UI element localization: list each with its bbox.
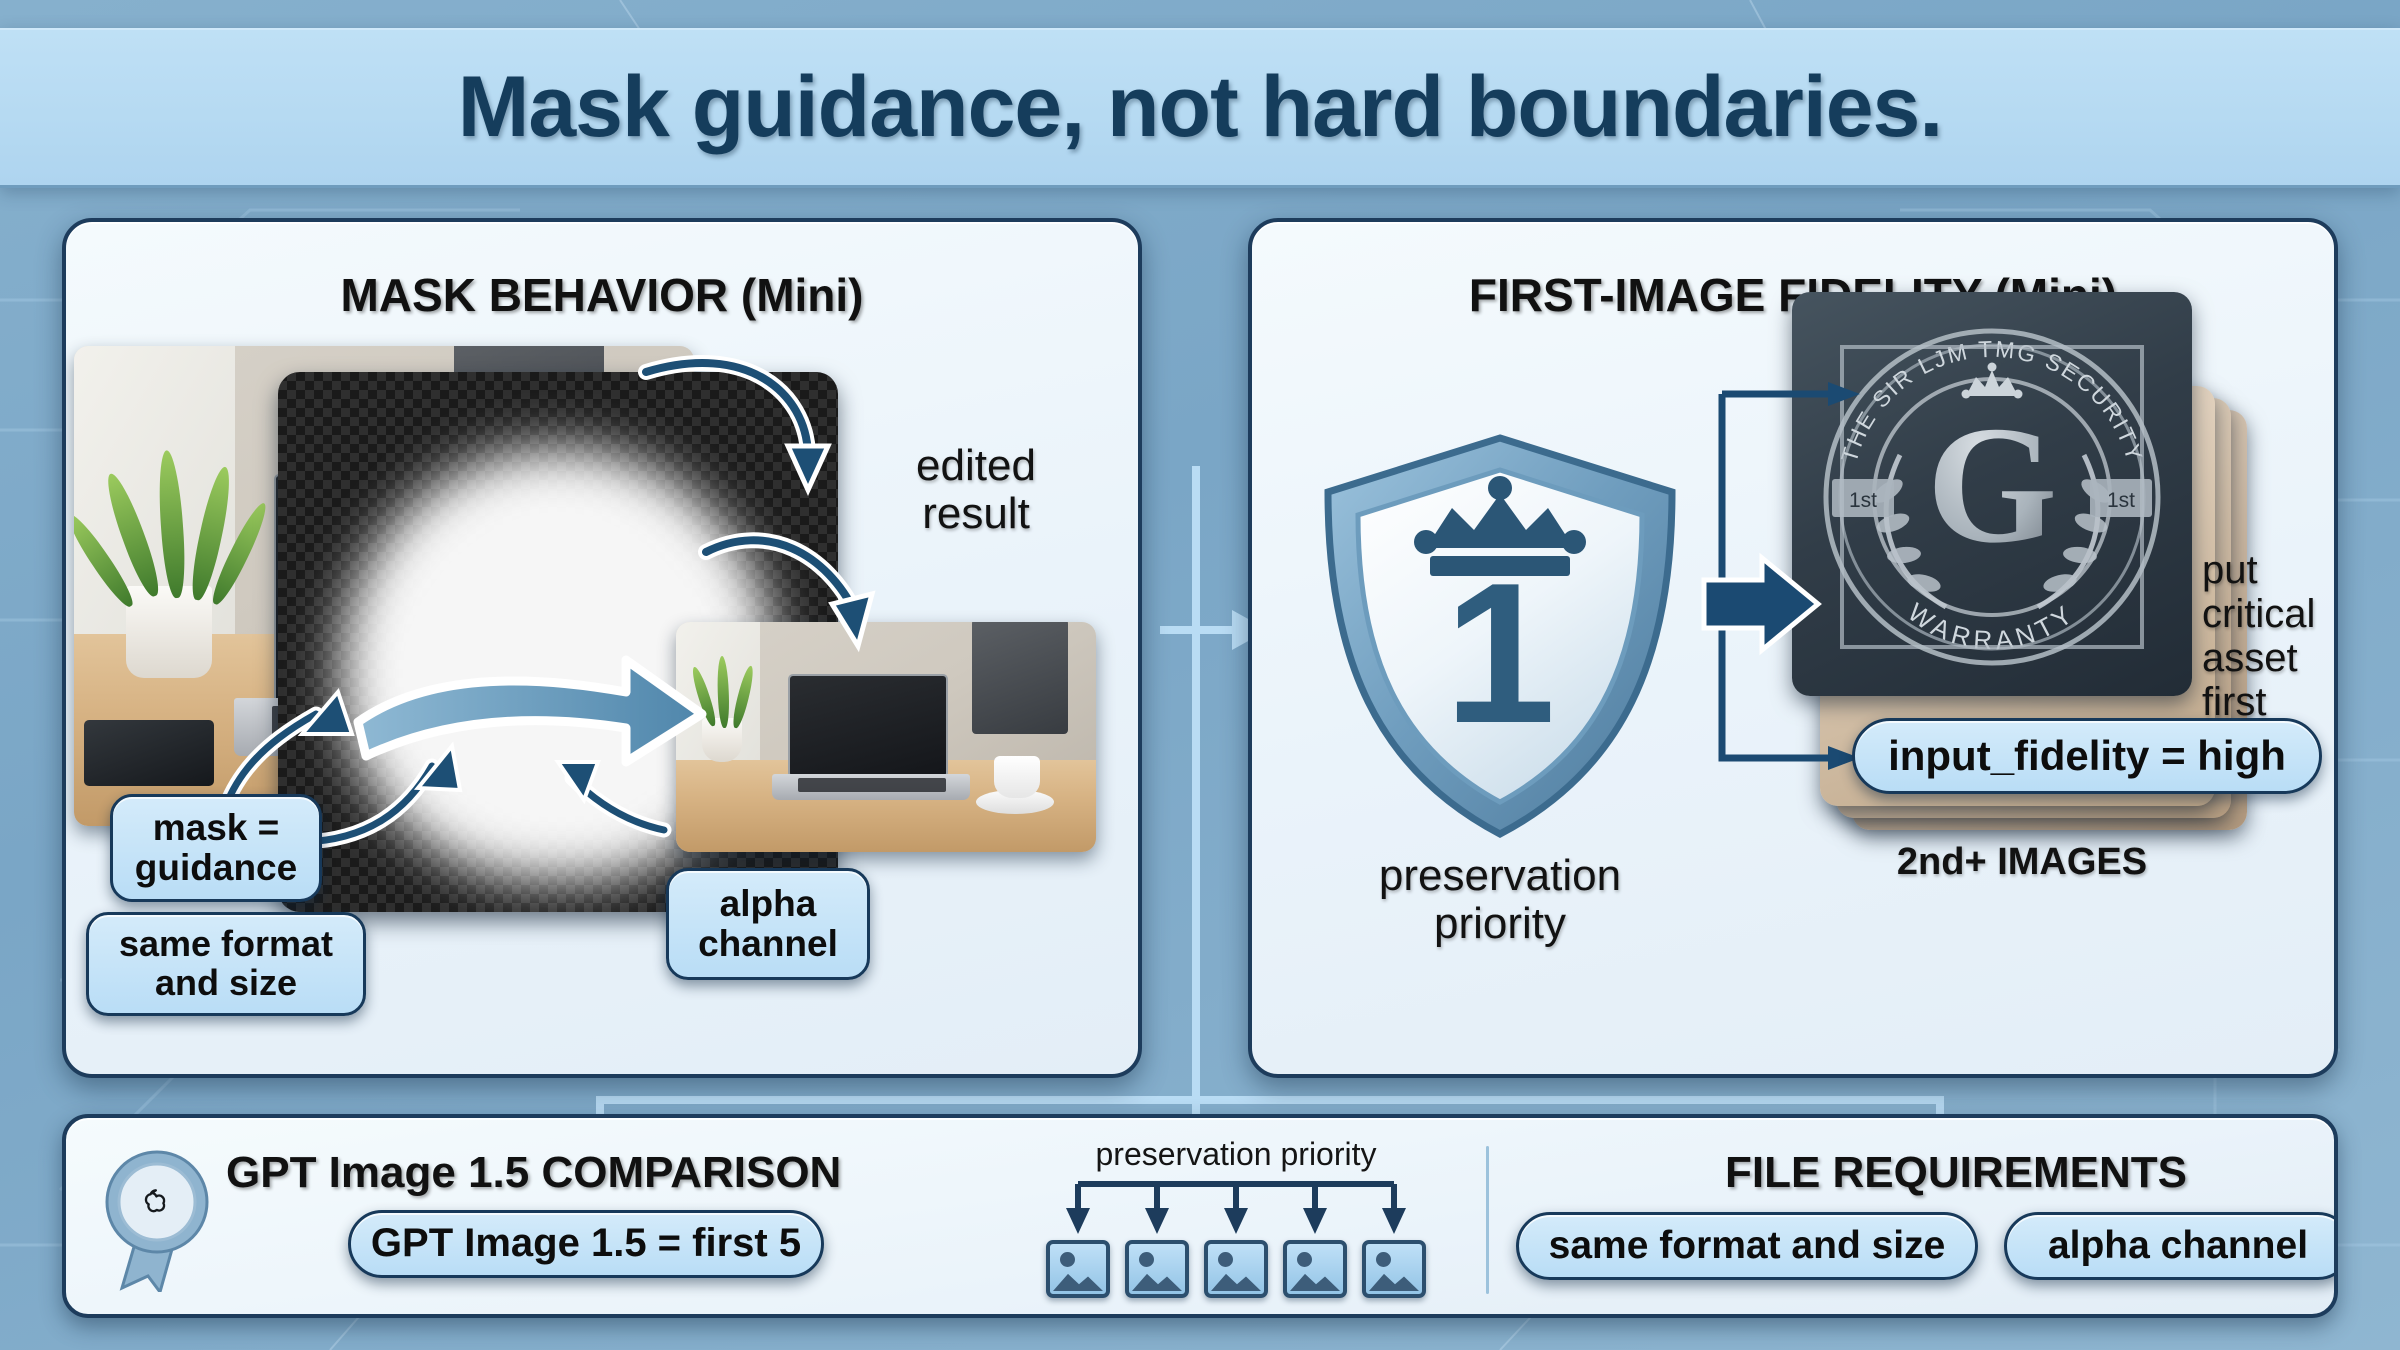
- panel-mask-behavior: MASK BEHAVIOR (Mini): [62, 218, 1142, 1078]
- image-placeholder-icon: [1204, 1240, 1268, 1298]
- image-placeholder-icon: [1283, 1240, 1347, 1298]
- bottom-bar-divider: [1486, 1146, 1489, 1294]
- image-placeholder-icon: [1362, 1240, 1426, 1298]
- infographic-canvas: Mask guidance, not hard boundaries. MASK…: [0, 0, 2400, 1350]
- file-requirements-heading: FILE REQUIREMENTS: [1606, 1148, 2306, 1198]
- priority-fanout-arrows: [1026, 1176, 1446, 1238]
- image-placeholder-icon: [1125, 1240, 1189, 1298]
- right-panel-arrows: [1252, 222, 2338, 1078]
- priority-diagram-caption: preservation priority: [1076, 1136, 1396, 1173]
- pill-file-alpha-channel[interactable]: alpha channel: [2004, 1212, 2338, 1280]
- openai-rosette-icon: [102, 1142, 212, 1292]
- pill-same-format-and-size[interactable]: same format and size: [86, 912, 366, 1016]
- second-plus-images-label: 2nd+ IMAGES: [1812, 842, 2232, 884]
- pill-alpha-channel[interactable]: alpha channel: [666, 868, 870, 980]
- pill-gpt-image-comparison[interactable]: GPT Image 1.5 = first 5: [348, 1210, 824, 1278]
- image-placeholder-icon: [1046, 1240, 1110, 1298]
- panel-first-image-fidelity: FIRST-IMAGE FIDELITY (Mini) 1st IMAGE (C…: [1248, 218, 2338, 1078]
- pill-input-fidelity[interactable]: input_fidelity = high: [1852, 718, 2322, 794]
- edited-result-label: edited result: [856, 442, 1096, 539]
- bottom-summary-bar: GPT Image 1.5 COMPARISON GPT Image 1.5 =…: [62, 1114, 2338, 1318]
- put-critical-asset-first-label: put critical asset first: [2202, 548, 2338, 724]
- pill-file-same-format-and-size[interactable]: same format and size: [1516, 1212, 1978, 1280]
- pill-mask-guidance[interactable]: mask = guidance: [110, 794, 322, 902]
- priority-image-icons: [1046, 1240, 1426, 1298]
- comparison-heading: GPT Image 1.5 COMPARISON: [226, 1148, 841, 1198]
